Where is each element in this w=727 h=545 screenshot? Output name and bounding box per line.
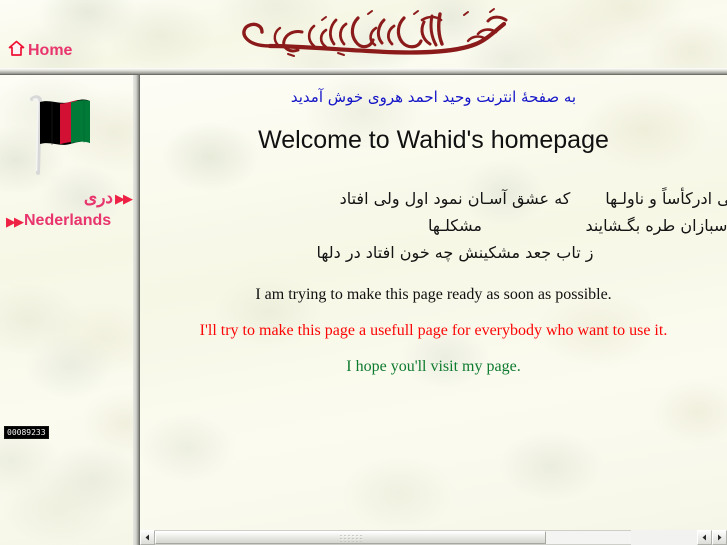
poem-line: مشکلـها xyxy=(305,212,605,239)
scroll-right-button[interactable] xyxy=(712,530,727,545)
sidebar-item-dari[interactable]: ▶▶ دری xyxy=(6,187,131,209)
scroll-left-button[interactable] xyxy=(140,530,155,545)
home-link-label: Home xyxy=(28,42,72,60)
home-icon xyxy=(8,40,25,62)
poem-column-left: که عشق آسـان نمود اول ولی افتاد مشکلـها … xyxy=(305,185,605,266)
horizontal-scrollbar[interactable] xyxy=(140,530,727,545)
sidebar-item-nederlands-label: Nederlands xyxy=(24,212,111,230)
poem-block: ها الساقی ادرکأساً و ناولـها فه کاخر سبا… xyxy=(140,185,727,265)
home-link[interactable]: Home xyxy=(8,40,72,62)
double-right-arrow-icon: ▶▶ xyxy=(6,215,22,228)
bismillah-calligraphy xyxy=(218,6,514,60)
poem-line: ز تاب جعد مشکینش چه خون افتاد در دلها xyxy=(305,239,605,266)
scrollbar-track[interactable] xyxy=(155,530,631,545)
sidebar-frame: ▶▶ دری ▶▶ Nederlands 00089233 xyxy=(0,75,133,545)
arrow-left-icon xyxy=(701,534,708,541)
afghanistan-flag-icon xyxy=(16,93,102,177)
scrollbar-end-spacer xyxy=(631,530,697,545)
scroll-page-left-button[interactable] xyxy=(697,530,712,545)
poem-line: فه کاخر سبازان طره بگـشایند xyxy=(585,212,727,239)
hit-counter: 00089233 xyxy=(4,426,49,439)
page-title: Welcome to Wahid's homepage xyxy=(140,125,727,155)
sidebar-item-nederlands[interactable]: ▶▶ Nederlands xyxy=(6,210,131,232)
welcome-text-dari: به صفحهٔ انترنت وحید احمد هروی خوش آمدید xyxy=(140,87,727,107)
status-message-red: I'll try to make this page a usefull pag… xyxy=(140,321,727,341)
scrollbar-grip xyxy=(340,534,362,541)
content-frame: به صفحهٔ انترنت وحید احمد هروی خوش آمدید… xyxy=(140,75,727,530)
arrow-left-icon xyxy=(144,534,151,541)
status-message-green: I hope you'll visit my page. xyxy=(140,357,727,377)
banner-frame: Home xyxy=(0,0,727,68)
scrollbar-thumb[interactable] xyxy=(155,531,546,544)
language-links: ▶▶ دری ▶▶ Nederlands xyxy=(6,187,131,233)
vertical-frame-divider[interactable] xyxy=(133,75,140,545)
arrow-right-icon xyxy=(716,534,723,541)
status-message-black: I am trying to make this page ready as s… xyxy=(140,285,727,305)
poem-column-right: ها الساقی ادرکأساً و ناولـها فه کاخر سبا… xyxy=(585,185,727,239)
poem-line: ها الساقی ادرکأساً و ناولـها xyxy=(585,185,727,212)
poem-line: که عشق آسـان نمود اول ولی افتاد xyxy=(305,185,605,212)
double-right-arrow-icon: ▶▶ xyxy=(115,192,131,205)
sidebar-item-dari-label: دری xyxy=(84,188,113,208)
horizontal-frame-divider[interactable] xyxy=(0,68,727,75)
